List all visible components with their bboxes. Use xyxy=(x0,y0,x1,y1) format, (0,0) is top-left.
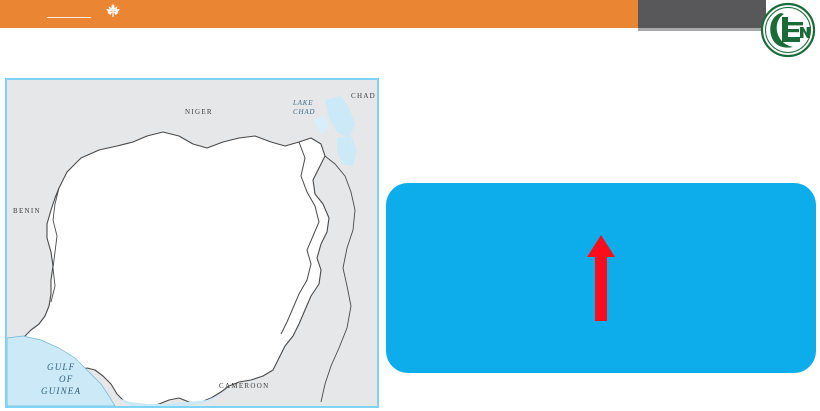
header-gray-band xyxy=(638,0,766,28)
iita-underline xyxy=(47,17,91,18)
kba-callout-panel[interactable] xyxy=(386,183,816,373)
map-label-gulf-2: OF xyxy=(59,374,73,384)
header-gray-band-shadow xyxy=(638,28,766,31)
up-arrow-icon xyxy=(586,233,616,323)
cgiar-icon xyxy=(103,4,123,19)
map-label-lake-chad-1: LAKE xyxy=(292,99,313,107)
map-label-lake-chad-2: CHAD xyxy=(293,108,315,116)
map-label-benin: BENIN xyxy=(13,207,41,215)
map-label-cameroon: CAMEROON xyxy=(219,382,269,390)
map-graphic: NIGER CHAD BENIN CAMEROON LAKE CHAD GULF… xyxy=(7,80,377,406)
map-label-gulf-3: GUINEA xyxy=(41,386,81,396)
iita-logo xyxy=(47,3,157,26)
map-label-chad: CHAD xyxy=(351,92,376,100)
header-bar xyxy=(0,0,820,28)
nigeria-iba-map[interactable]: NIGER CHAD BENIN CAMEROON LAKE CHAD GULF… xyxy=(5,78,379,408)
map-label-gulf-1: GULF xyxy=(47,362,75,372)
len-logo xyxy=(760,2,816,58)
map-label-niger: NIGER xyxy=(185,108,213,116)
